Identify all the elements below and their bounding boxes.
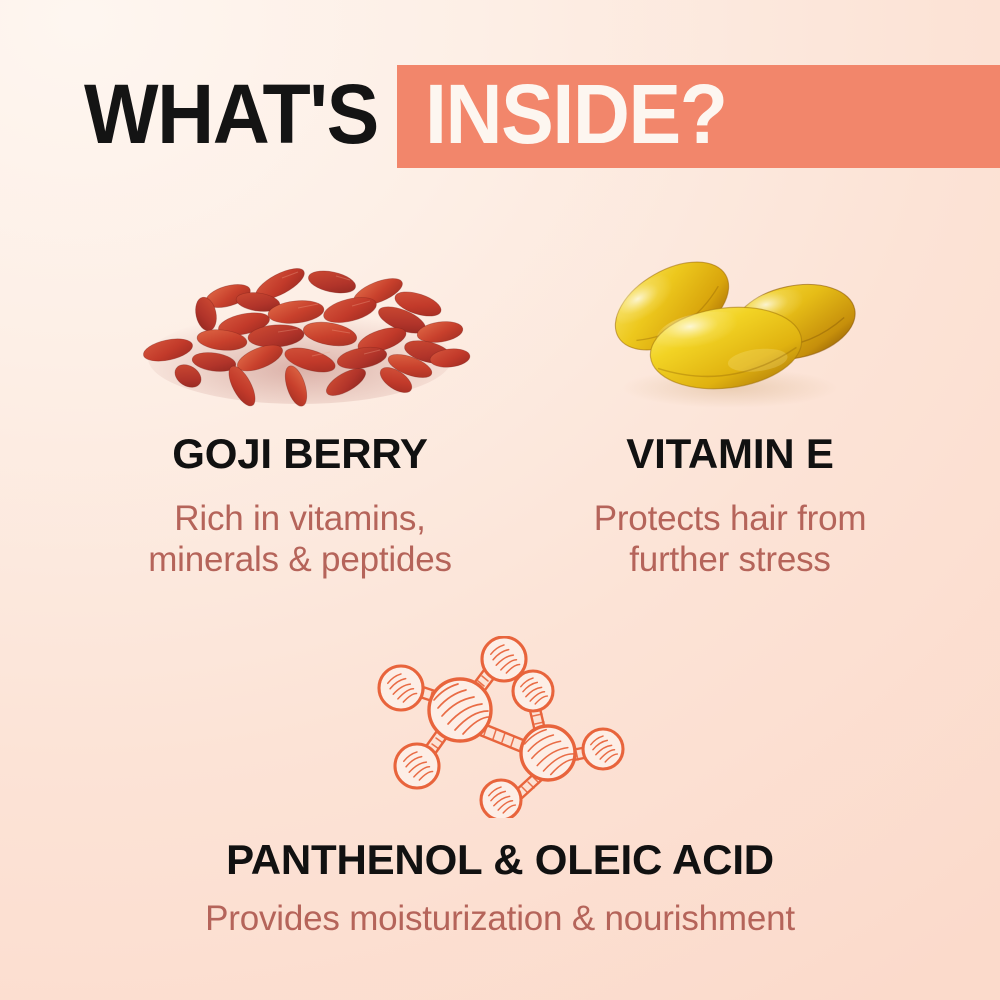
vitamin-e-artwork — [470, 240, 990, 418]
header: WHAT'S INSIDE? — [0, 65, 1000, 168]
ingredient-card-panthenol-oleic-acid: PANTHENOL & OLEIC ACID Provides moisturi… — [0, 636, 1000, 939]
header-accent-banner: INSIDE? — [397, 65, 1000, 168]
page-title-accent: INSIDE? — [425, 63, 727, 166]
description-line: Protects hair from — [470, 498, 990, 539]
ingredient-infographic-poster: WHAT'S INSIDE? — [0, 0, 1000, 1000]
description-line: Provides moisturization & nourishment — [0, 898, 1000, 939]
ingredient-name-panthenol-oleic-acid: PANTHENOL & OLEIC ACID — [0, 836, 1000, 884]
ingredient-name-vitamin-e: VITAMIN E — [470, 430, 990, 478]
vitamin-e-softgel-capsules-image — [580, 240, 880, 418]
molecule-sketch-icon — [370, 636, 630, 818]
description-line: further stress — [470, 539, 990, 580]
goji-berry-pile-image — [110, 240, 490, 418]
panthenol-artwork — [0, 636, 1000, 818]
ingredient-card-vitamin-e: VITAMIN E Protects hair from further str… — [470, 240, 990, 581]
ingredient-description-vitamin-e: Protects hair from further stress — [470, 498, 990, 581]
ingredient-description-panthenol-oleic-acid: Provides moisturization & nourishment — [0, 898, 1000, 939]
page-title-primary: WHAT'S — [84, 63, 378, 166]
